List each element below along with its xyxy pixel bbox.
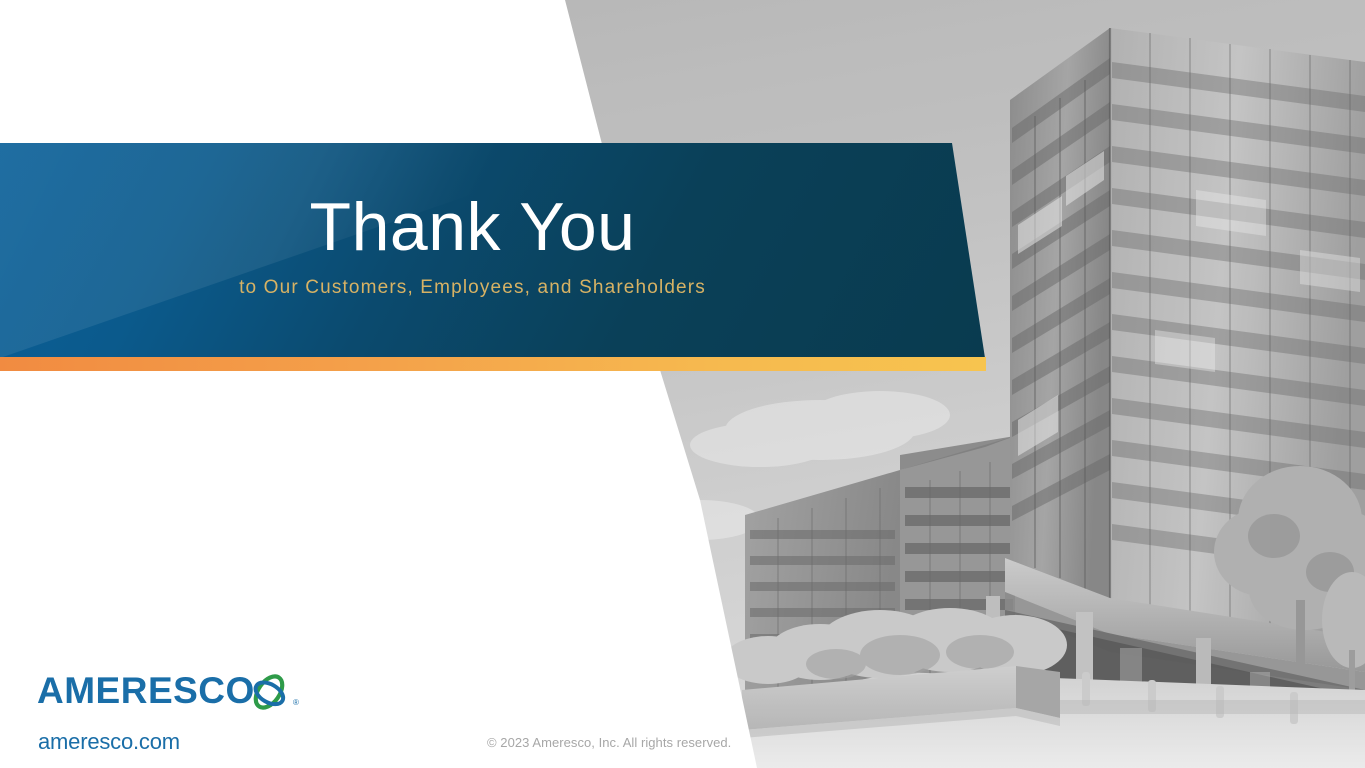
ameresco-logo[interactable]: AMERESCO ® — [37, 672, 299, 714]
slide-canvas: Thank You to Our Customers, Employees, a… — [0, 0, 1365, 768]
website-url[interactable]: ameresco.com — [38, 729, 180, 755]
page-subtitle: to Our Customers, Employees, and Shareho… — [0, 277, 945, 299]
copyright-notice: © 2023 Ameresco, Inc. All rights reserve… — [487, 735, 731, 750]
hero-photo-region — [0, 0, 1365, 768]
registered-mark: ® — [293, 698, 299, 707]
accent-bar — [0, 357, 986, 371]
hero-photo — [0, 0, 1365, 768]
ameresco-orbit-icon — [250, 672, 287, 712]
page-title: Thank You — [0, 192, 945, 263]
svg-text:AMERESCO: AMERESCO — [37, 672, 255, 711]
ameresco-logo-svg: AMERESCO ® — [37, 672, 299, 714]
